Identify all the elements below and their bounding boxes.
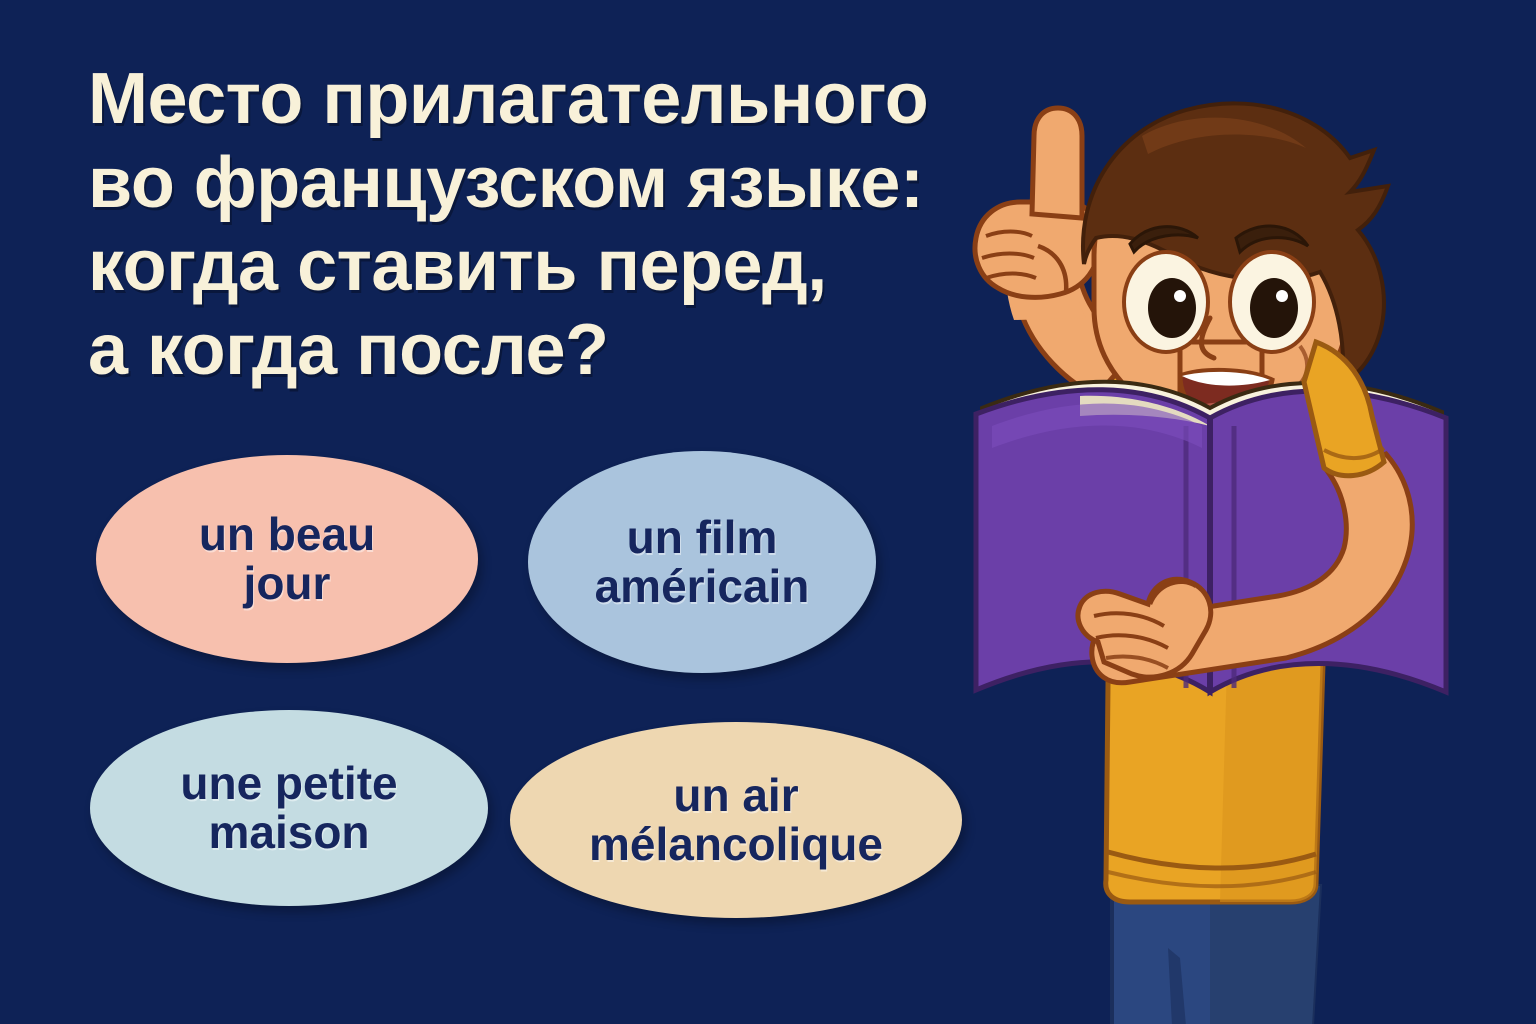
- cartoon-boy-illustration: [880, 96, 1536, 1024]
- example-bubble-label: un air mélancolique: [589, 771, 883, 869]
- example-bubble-film-americain: un film américain: [528, 451, 876, 673]
- example-bubble-beau-jour: un beau jour: [96, 455, 478, 663]
- example-bubble-label: un beau jour: [199, 510, 375, 608]
- example-bubble-petite-maison: une petite maison: [90, 710, 488, 906]
- example-bubble-label: un film américain: [595, 513, 810, 611]
- poster-canvas: Место прилагательного во французском язы…: [0, 0, 1536, 1024]
- example-bubble-label: une petite maison: [180, 759, 397, 857]
- pants-shape: [1112, 886, 1320, 1024]
